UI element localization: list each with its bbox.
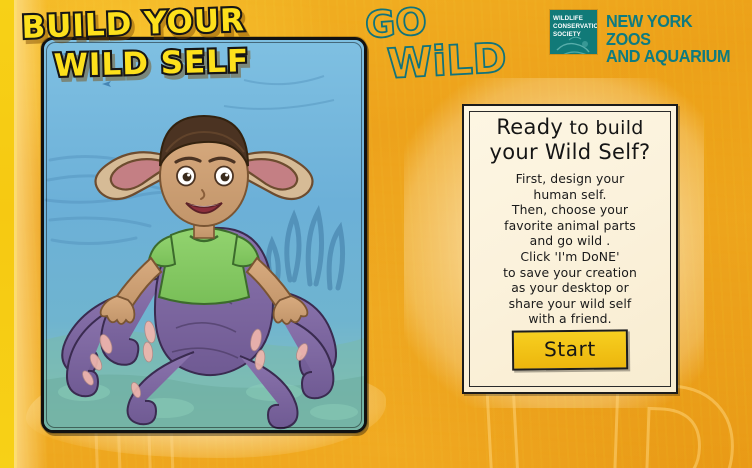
instruction-line: as your desktop or [472, 280, 668, 296]
panel-heading-line-2: your Wild Self? [472, 140, 668, 165]
start-button[interactable]: Start [512, 329, 628, 370]
wcs-logo-mark[interactable]: WILDLIFE CONSERVATION SOCIETY [550, 10, 597, 54]
org-line-2: AND AQUARIUM [606, 48, 736, 66]
instruction-line: First, design your [472, 171, 668, 187]
heading-word-tobuild: to build [569, 117, 643, 139]
character-illustration [44, 40, 364, 430]
heading-question-mark: ? [639, 140, 650, 164]
panel-body-text: First, design your human self. Then, cho… [472, 171, 668, 327]
start-button-area: Start [464, 330, 676, 370]
heading-word-ready: Ready [496, 115, 563, 139]
wcs-logo-line-3: SOCIETY [553, 31, 594, 39]
instruction-line: with a friend. [472, 311, 668, 327]
instructions-panel: Ready to build your Wild Self? First, de… [462, 104, 678, 394]
wcs-logo-line-2: CONSERVATION [553, 23, 594, 31]
heading-word-wildself: your Wild Self [489, 140, 639, 164]
go-wild-tagline: GO WiLD [362, 2, 552, 88]
wcs-branding[interactable]: WILDLIFE CONSERVATION SOCIETY NEW YORK Z… [550, 10, 746, 56]
wcs-logo-line-1: WILDLIFE [553, 15, 594, 23]
org-line-1: NEW YORK ZOOS [606, 13, 736, 48]
instruction-line: human self. [472, 187, 668, 203]
instruction-line: Click 'I'm DoNE' [472, 249, 668, 265]
instruction-line: to save your creation [472, 265, 668, 281]
app-title: BUILD YOUR WILD SELF [14, 6, 354, 86]
title-line-1: BUILD YOUR [21, 6, 245, 46]
panel-heading-line-1: Ready to build [472, 116, 668, 140]
go-wild-text-wild: WiLD [386, 34, 508, 88]
instruction-line: Then, choose your [472, 202, 668, 218]
instruction-line: favorite animal parts [472, 218, 668, 234]
wcs-org-name: NEW YORK ZOOS AND AQUARIUM [606, 10, 746, 66]
app-screen: l D U BUILD YOUR WILD SELF GO WiLD [0, 0, 752, 468]
title-line-2: WILD SELF [53, 43, 249, 84]
instruction-line: and go wild . [472, 233, 668, 249]
instruction-line: share your wild self [472, 296, 668, 312]
character-preview-frame[interactable] [41, 37, 367, 433]
